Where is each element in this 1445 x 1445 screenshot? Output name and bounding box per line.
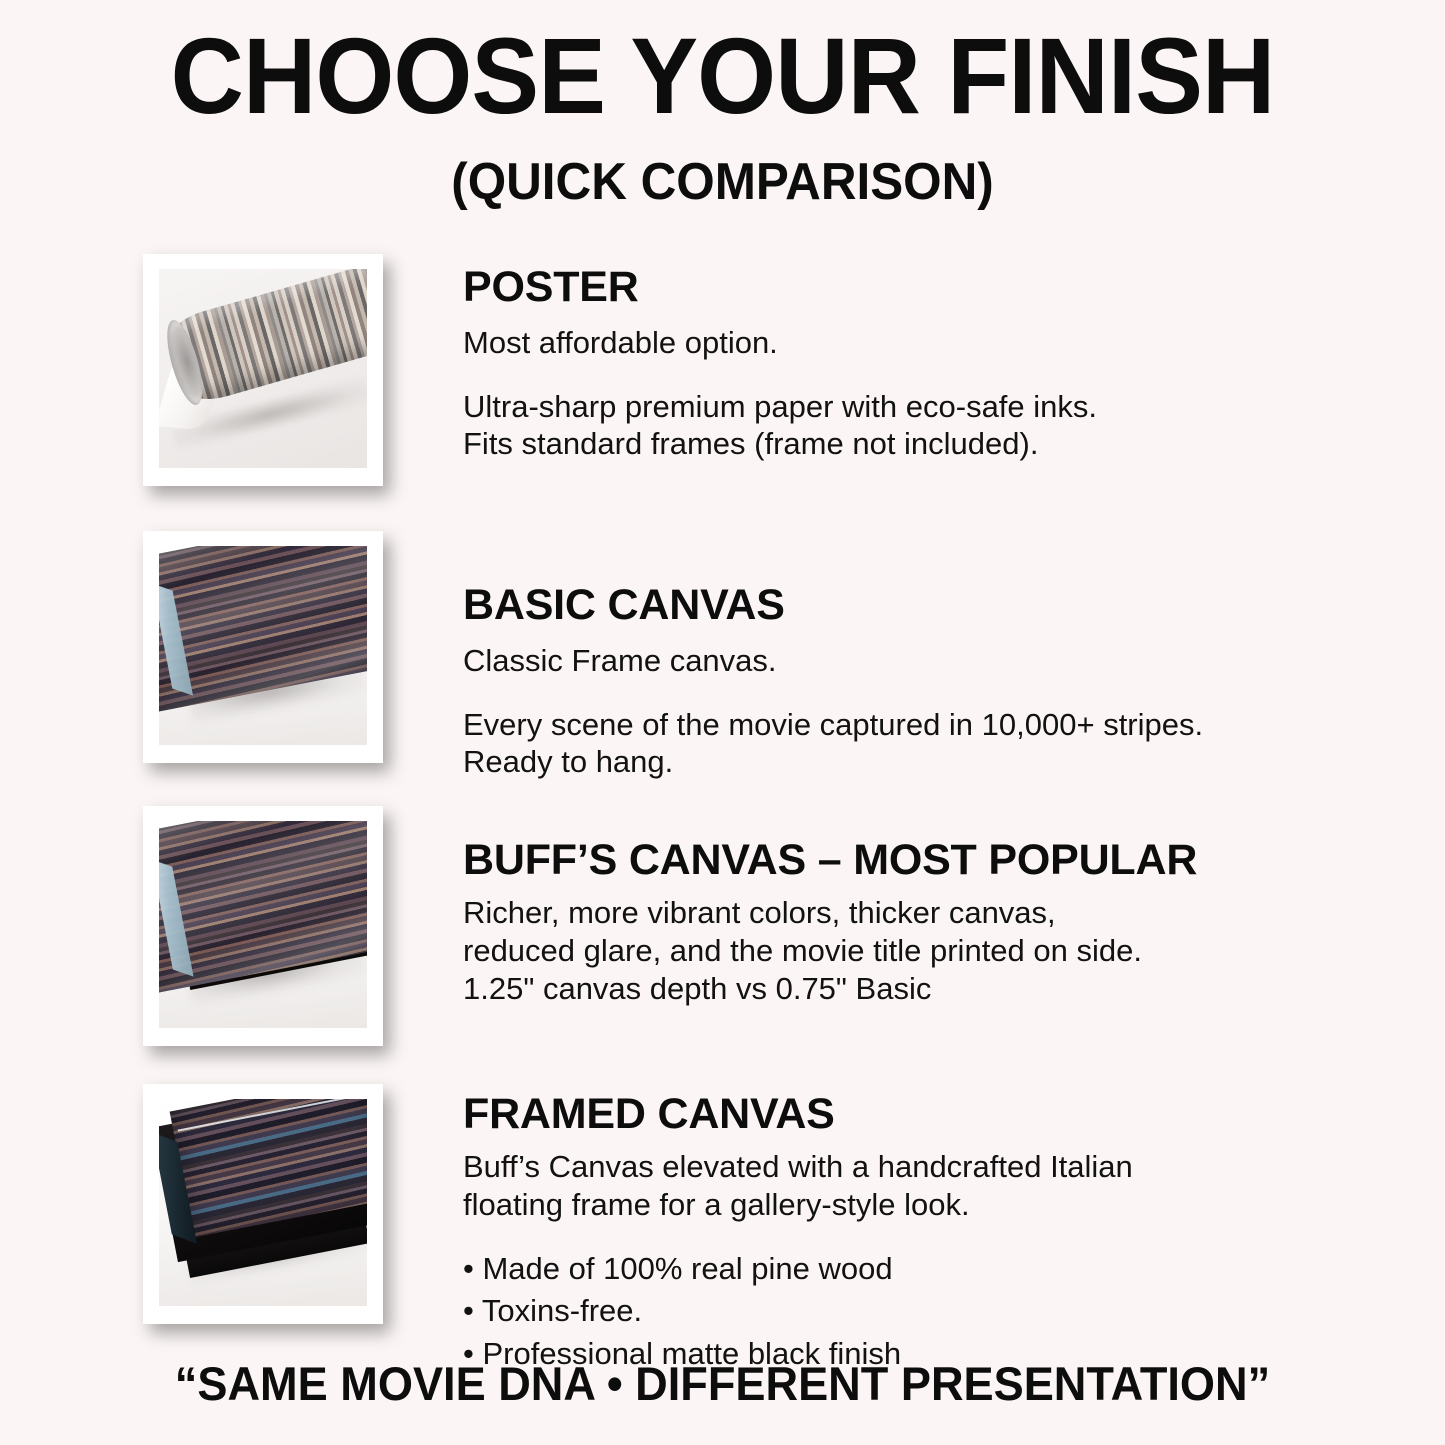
- basic-canvas-lead: Classic Frame canvas.: [463, 643, 1445, 680]
- poster-lead: Most affordable option.: [463, 325, 1445, 362]
- poster-description: Ultra-sharp premium paper with eco-safe …: [463, 388, 1445, 464]
- buffs-canvas-title: BUFF’S CANVAS – MOST POPULAR: [463, 839, 1445, 882]
- framed-canvas-description: Buff’s Canvas elevated with a handcrafte…: [463, 1148, 1445, 1224]
- buffs-canvas-thumbnail-frame: [143, 806, 383, 1046]
- basic-canvas-description-line-1: Every scene of the movie captured in 10,…: [463, 706, 1445, 744]
- poster-thumbnail-wrap: [143, 254, 383, 486]
- buffs-canvas-description-line-3: 1.25" canvas depth vs 0.75" Basic: [463, 970, 1445, 1008]
- poster-text-block: POSTER Most affordable option. Ultra-sha…: [463, 254, 1445, 463]
- framed-canvas-thumbnail-wrap: [143, 1084, 383, 1324]
- buffs-canvas-description-line-2: reduced glare, and the movie title print…: [463, 932, 1445, 970]
- finish-option-framed-canvas: FRAMED CANVAS Buff’s Canvas elevated wit…: [0, 1079, 1445, 1359]
- poster-thumbnail-frame: [143, 254, 383, 486]
- framed-canvas-title: FRAMED CANVAS: [463, 1093, 1445, 1136]
- basic-canvas-description: Every scene of the movie captured in 10,…: [463, 706, 1445, 782]
- buffs-canvas-description-line-1: Richer, more vibrant colors, thicker can…: [463, 894, 1445, 932]
- finish-option-basic-canvas: BASIC CANVAS Classic Frame canvas. Every…: [0, 526, 1445, 801]
- basic-canvas-title: BASIC CANVAS: [463, 584, 1445, 627]
- finish-options-list: POSTER Most affordable option. Ultra-sha…: [0, 254, 1445, 1359]
- page-subtitle: (QUICK COMPARISON): [36, 156, 1409, 208]
- basic-canvas-text-block: BASIC CANVAS Classic Frame canvas. Every…: [463, 526, 1445, 781]
- buffs-canvas-description: Richer, more vibrant colors, thicker can…: [463, 894, 1445, 1007]
- poster-title: POSTER: [463, 266, 1445, 309]
- buffs-canvas-corner-photo: [159, 821, 367, 1028]
- footer-tagline: “SAME MOVIE DNA • DIFFERENT PRESENTATION…: [29, 1356, 1416, 1411]
- framed-canvas-corner-photo: [159, 1099, 367, 1306]
- page-header: CHOOSE YOUR FINISH (QUICK COMPARISON): [0, 0, 1445, 208]
- framed-canvas-thumbnail-frame: [143, 1084, 383, 1324]
- framed-canvas-bullet-2: • Toxins-free.: [463, 1290, 1445, 1333]
- basic-canvas-description-line-2: Ready to hang.: [463, 743, 1445, 781]
- framed-canvas-text-block: FRAMED CANVAS Buff’s Canvas elevated wit…: [463, 1079, 1445, 1376]
- framed-canvas-description-line-1: Buff’s Canvas elevated with a handcrafte…: [463, 1148, 1445, 1186]
- poster-description-line-2: Fits standard frames (frame not included…: [463, 425, 1445, 463]
- buffs-canvas-thumbnail-wrap: [143, 806, 383, 1046]
- basic-canvas-corner-photo: [159, 546, 367, 745]
- poster-description-line-1: Ultra-sharp premium paper with eco-safe …: [463, 388, 1445, 426]
- page-title: CHOOSE YOUR FINISH: [43, 22, 1401, 130]
- buffs-canvas-text-block: BUFF’S CANVAS – MOST POPULAR Richer, mor…: [463, 801, 1445, 1007]
- basic-canvas-thumbnail-wrap: [143, 531, 383, 763]
- basic-canvas-thumbnail-frame: [143, 531, 383, 763]
- framed-canvas-bullet-1: • Made of 100% real pine wood: [463, 1248, 1445, 1291]
- rolled-poster-photo: [159, 269, 367, 468]
- framed-canvas-description-line-2: floating frame for a gallery-style look.: [463, 1186, 1445, 1224]
- finish-option-poster: POSTER Most affordable option. Ultra-sha…: [0, 254, 1445, 526]
- finish-option-buffs-canvas: BUFF’S CANVAS – MOST POPULAR Richer, mor…: [0, 801, 1445, 1079]
